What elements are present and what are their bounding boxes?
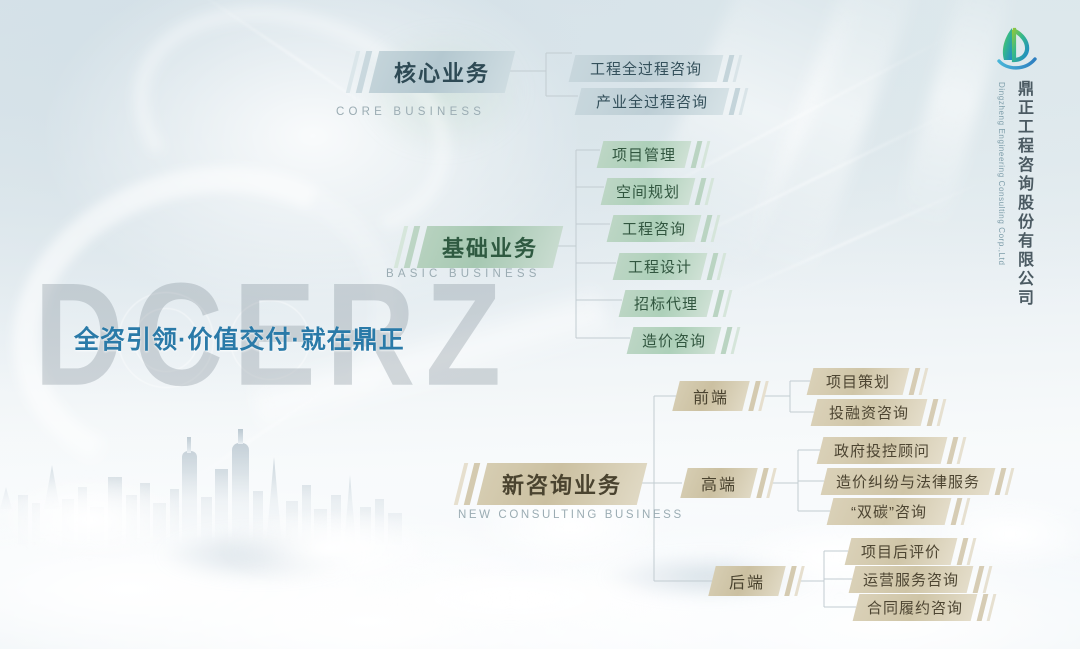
branch-label: 高端 — [701, 471, 737, 495]
leaf-label: 投融资咨询 — [829, 402, 909, 423]
leaf-front-end-0[interactable]: 项目策划 — [807, 368, 910, 395]
leaf-label: 工程咨询 — [622, 218, 686, 239]
leaf-basic-1[interactable]: 空间规划 — [601, 178, 696, 205]
leaf-basic-2[interactable]: 工程咨询 — [607, 215, 702, 242]
logo-english-name: Dingzheng Engineering Consulting Corp.,L… — [997, 82, 1006, 266]
leaf-back-end-0[interactable]: 项目后评价 — [845, 538, 958, 565]
group-title-label: 新咨询业务 — [502, 468, 622, 500]
branch-back-end[interactable]: 后端 — [708, 566, 785, 596]
leaf-high-end-0[interactable]: 政府投控顾问 — [817, 437, 948, 464]
leaf-label: 政府投控顾问 — [834, 440, 930, 461]
leaf-label: 工程全过程咨询 — [590, 58, 702, 79]
leaf-label: 造价咨询 — [642, 330, 706, 351]
leaf-label: 造价纠纷与法律服务 — [836, 471, 980, 492]
leaf-label: “双碳”咨询 — [851, 501, 927, 522]
leaf-label: 合同履约咨询 — [867, 597, 963, 618]
leaf-core-1[interactable]: 产业全过程咨询 — [575, 88, 730, 115]
company-logo: Dingzheng Engineering Consulting Corp.,L… — [981, 26, 1053, 330]
leaf-basic-3[interactable]: 工程设计 — [613, 253, 708, 280]
group-title-label: 基础业务 — [442, 231, 538, 263]
group-title-label: 核心业务 — [394, 56, 490, 88]
leaf-basic-0[interactable]: 项目管理 — [597, 141, 692, 168]
leaf-label: 项目策划 — [826, 371, 890, 392]
group-subtitle-new-consulting-business: NEW CONSULTING BUSINESS — [458, 509, 684, 521]
dingzheng-sail-leaf-logo-icon — [995, 26, 1039, 74]
leaf-label: 空间规划 — [616, 181, 680, 202]
branch-high-end[interactable]: 高端 — [680, 468, 757, 498]
leaf-label: 招标代理 — [634, 293, 698, 314]
leaf-basic-5[interactable]: 造价咨询 — [627, 327, 722, 354]
leaf-label: 运营服务咨询 — [863, 569, 959, 590]
branch-label: 前端 — [693, 384, 729, 408]
group-title-core-business[interactable]: 核心业务 — [369, 51, 515, 93]
leaf-label: 项目管理 — [612, 144, 676, 165]
group-title-basic-business[interactable]: 基础业务 — [417, 226, 563, 268]
leaf-label: 项目后评价 — [861, 541, 941, 562]
leaf-back-end-2[interactable]: 合同履约咨询 — [853, 594, 978, 621]
leaf-label: 产业全过程咨询 — [596, 91, 708, 112]
logo-chinese-name: 鼎正工程咨询股份有限公司 — [1011, 80, 1035, 308]
cloud-puff-6 — [300, 553, 720, 643]
leaf-high-end-2[interactable]: “双碳”咨询 — [827, 498, 952, 525]
leaf-front-end-1[interactable]: 投融资咨询 — [811, 399, 928, 426]
leaf-core-0[interactable]: 工程全过程咨询 — [569, 55, 724, 82]
group-title-new-consulting-business[interactable]: 新咨询业务 — [477, 463, 647, 505]
leaf-basic-4[interactable]: 招标代理 — [619, 290, 714, 317]
group-subtitle-core-business: CORE BUSINESS — [336, 106, 485, 118]
leaf-label: 工程设计 — [628, 256, 692, 277]
branch-label: 后端 — [729, 569, 765, 593]
group-subtitle-basic-business: BASIC BUSINESS — [386, 268, 541, 280]
leaf-high-end-1[interactable]: 造价纠纷与法律服务 — [821, 468, 996, 495]
infographic-canvas: DCERZ — [0, 0, 1080, 649]
tagline: 全咨引领·价值交付·就在鼎正 — [74, 320, 405, 356]
branch-front-end[interactable]: 前端 — [672, 381, 749, 411]
leaf-back-end-1[interactable]: 运营服务咨询 — [849, 566, 974, 593]
